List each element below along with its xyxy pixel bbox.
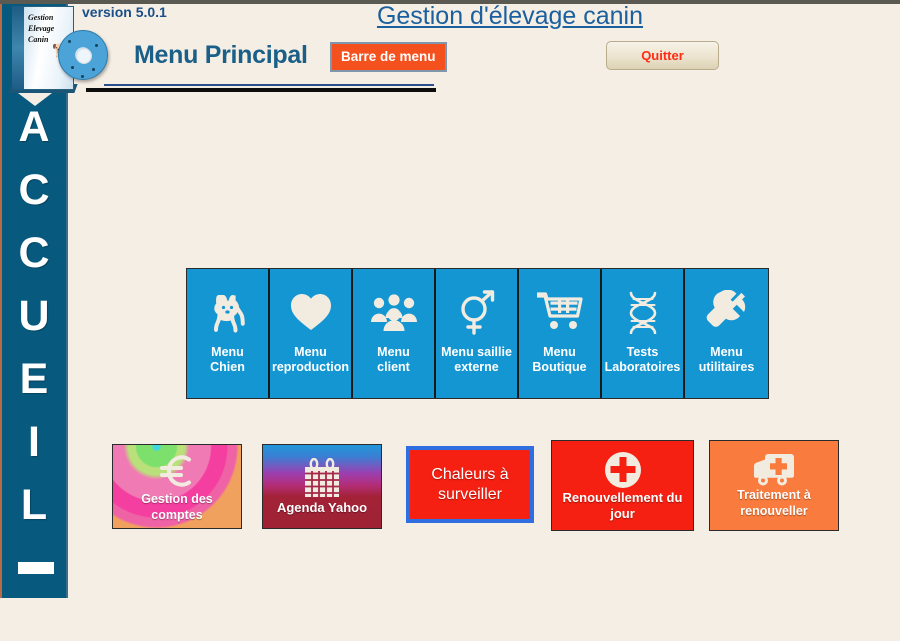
people-group-icon <box>370 283 418 341</box>
menu-tile-label: Tests Laboratoires <box>605 345 681 375</box>
ambulance-icon <box>752 453 796 487</box>
shortcut-renouvellement-du-jour[interactable]: Renouvellement du jour <box>551 440 694 531</box>
menu-tile-client[interactable]: Menu client <box>353 269 436 398</box>
menu-tile-chien[interactable]: Menu Chien <box>187 269 270 398</box>
menu-tile-label: Menu utilitaires <box>699 345 755 375</box>
main-menu-strip: Menu Chien Menu reproduction Menu client <box>186 268 769 399</box>
menu-tile-tests-laboratoires[interactable]: Tests Laboratoires <box>602 269 685 398</box>
shortcut-label: Renouvellement du jour <box>563 490 683 522</box>
shortcut-agenda-yahoo[interactable]: Agenda Yahoo <box>262 444 382 529</box>
menu-tile-reproduction[interactable]: Menu reproduction <box>270 269 353 398</box>
menu-tile-boutique[interactable]: Menu Boutique <box>519 269 602 398</box>
page-title: Menu Principal <box>134 41 308 70</box>
sidebar-letter: C <box>18 222 49 285</box>
app-title-text: Gestion d'élevage canin <box>377 2 643 30</box>
shortcut-label: Chaleurs à surveiller <box>431 465 508 505</box>
euro-icon <box>158 451 196 491</box>
sidebar-letter: C <box>18 159 49 222</box>
sidebar-letter: U <box>18 285 49 348</box>
shopping-cart-icon <box>537 283 583 341</box>
dog-icon <box>208 283 248 341</box>
sidebar-letter: E <box>20 348 49 411</box>
menu-tile-label: Menu saillie externe <box>441 345 512 375</box>
shortcut-chaleurs-a-surveiller[interactable]: Chaleurs à surveiller <box>406 446 534 523</box>
heart-icon <box>289 283 333 341</box>
menu-tile-label: Menu Boutique <box>532 345 586 375</box>
shortcut-label: Traitement à renouveller <box>737 487 811 519</box>
version-label: version 5.0.1 <box>82 4 167 20</box>
logo-box-spine <box>12 6 24 90</box>
menu-tile-label: Menu client <box>377 345 410 375</box>
wrench-screwdriver-icon <box>704 283 750 341</box>
shortcut-gestion-comptes[interactable]: Gestion des comptes <box>112 444 242 529</box>
quit-button[interactable]: Quitter <box>606 41 719 70</box>
shortcut-traitement-a-renouveller[interactable]: Traitement à renouveller <box>709 440 839 531</box>
medical-cross-icon <box>603 450 643 490</box>
menu-tile-label: Menu reproduction <box>272 345 349 375</box>
dna-helix-icon <box>621 283 665 341</box>
menu-tile-saillie-externe[interactable]: Menu saillie externe <box>436 269 519 398</box>
shortcut-label: Gestion des comptes <box>141 491 213 523</box>
gender-symbols-icon <box>455 283 499 341</box>
calendar-icon <box>301 458 343 500</box>
sidebar-letter: I <box>28 411 40 474</box>
menu-tile-utilitaires[interactable]: Menu utilitaires <box>685 269 768 398</box>
logo-cd-icon <box>58 30 108 80</box>
menubar-button[interactable]: Barre de menu <box>330 42 447 72</box>
header-divider-black <box>86 88 436 92</box>
sidebar-letter: L <box>21 474 47 537</box>
menu-tile-label: Menu Chien <box>210 345 245 375</box>
sidebar-bottom-notch <box>18 562 54 574</box>
shortcut-label: Agenda Yahoo <box>277 500 367 516</box>
header-divider-blue <box>104 84 434 86</box>
